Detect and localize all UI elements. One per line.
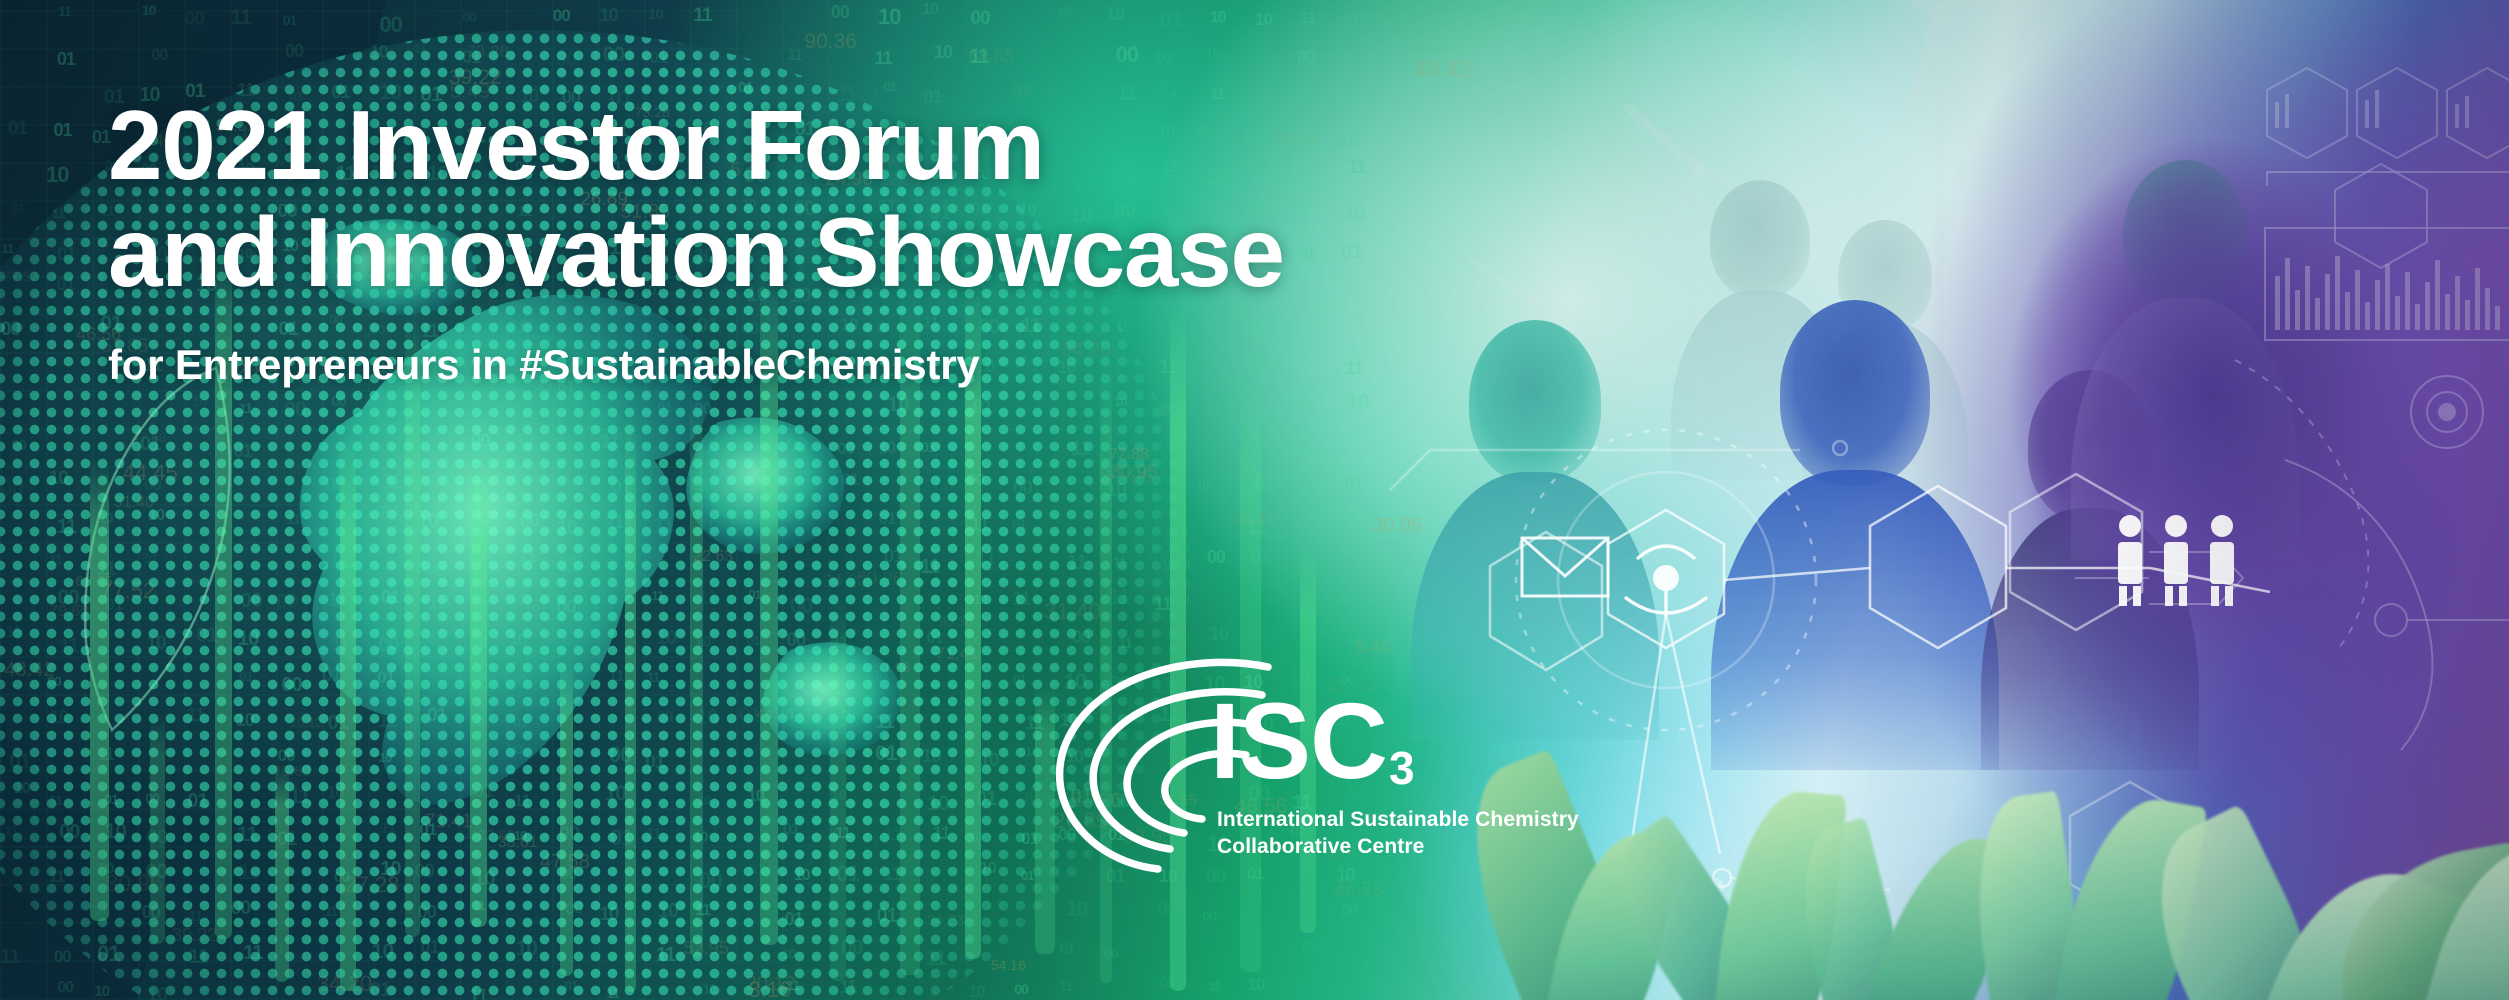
- isc3-tagline-line-2: Collaborative Centre: [1217, 834, 1579, 861]
- isc3-logo: ISC3 International Sustainable Chemistry…: [1040, 655, 1600, 895]
- headline-line-1: 2021 Investor Forum: [108, 90, 1044, 200]
- headline-block: 2021 Investor Forum and Innovation Showc…: [108, 92, 1284, 390]
- banner-root: 1110001101000000101011001010000010011010…: [0, 0, 2509, 1000]
- isc3-wordmark: ISC3: [1210, 687, 1412, 795]
- broadcast-antenna-icon: [1626, 546, 1706, 615]
- isc3-letters: ISC: [1210, 680, 1387, 801]
- group-people-icon: [2118, 515, 2234, 606]
- isc3-subscript: 3: [1389, 742, 1414, 794]
- isc3-tagline-line-1: International Sustainable Chemistry: [1217, 808, 1579, 831]
- green-tea-leaves: [1480, 690, 2509, 1000]
- page-title: 2021 Investor Forum and Innovation Showc…: [108, 92, 1284, 306]
- isc3-tagline: International Sustainable Chemistry Coll…: [1217, 807, 1579, 861]
- envelope-icon: [1522, 538, 1608, 596]
- subheadline: for Entrepreneurs in #SustainableChemist…: [108, 340, 1284, 390]
- headline-line-2: and Innovation Showcase: [108, 199, 1284, 306]
